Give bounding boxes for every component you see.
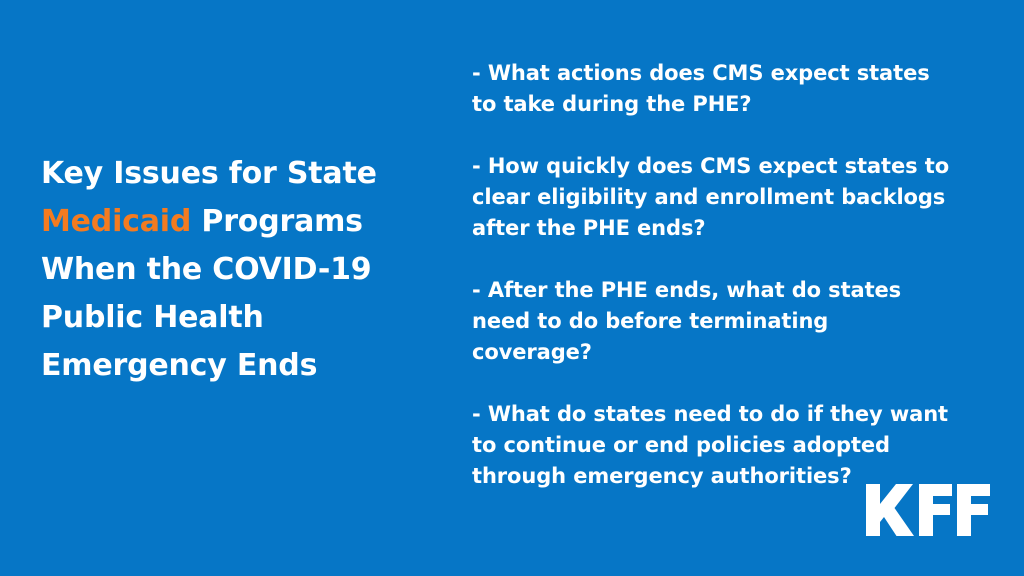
title-line-1-text: Key Issues for State [41,156,377,191]
title-line-3-text: When the COVID-19 [41,252,371,287]
page-title: Key Issues for State Medicaid Programs W… [41,150,441,390]
slide-canvas: Key Issues for State Medicaid Programs W… [0,0,1024,576]
title-line-2: Medicaid Programs [41,198,441,246]
question-item-1: - What actions does CMS expect states to… [472,58,952,120]
title-line-2-text: Programs [191,204,363,239]
title-line-1: Key Issues for State [41,150,441,198]
title-line-5-text: Emergency Ends [41,348,317,383]
question-item-3: - After the PHE ends, what do states nee… [472,275,952,368]
title-accent-medicaid: Medicaid [41,204,191,239]
title-line-4: Public Health [41,294,441,342]
title-line-3: When the COVID-19 [41,246,441,294]
kff-logo [866,484,990,536]
title-line-4-text: Public Health [41,300,264,335]
title-line-5: Emergency Ends [41,342,441,390]
question-list: - What actions does CMS expect states to… [472,58,952,492]
question-item-2: - How quickly does CMS expect states to … [472,151,952,244]
question-item-4: - What do states need to do if they want… [472,399,952,492]
